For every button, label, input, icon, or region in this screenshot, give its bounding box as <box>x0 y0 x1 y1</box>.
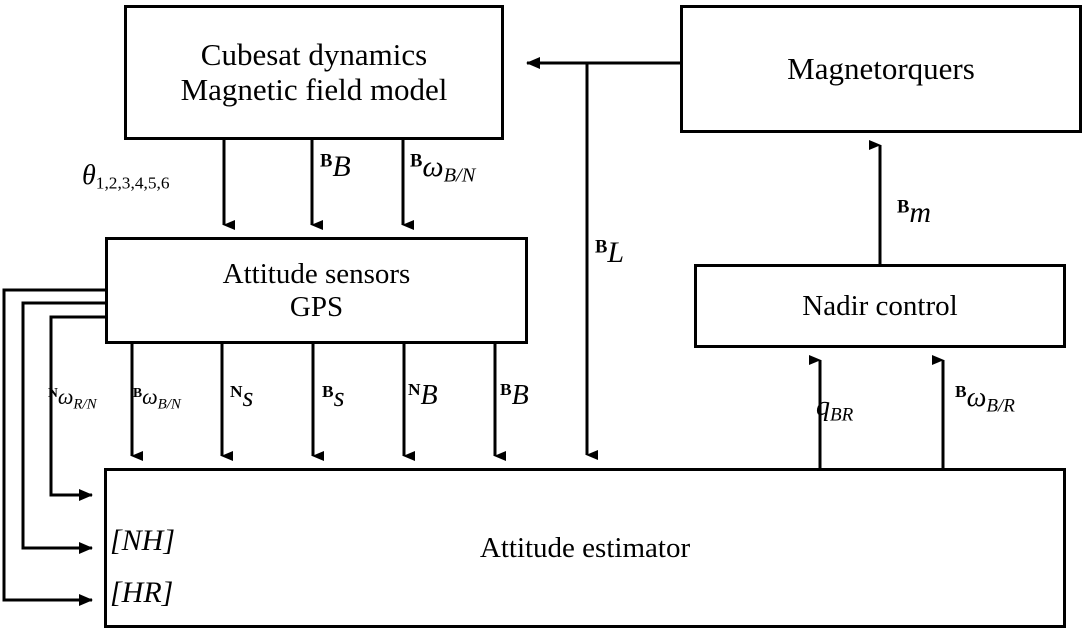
signal-label-dipole-Bm: Bm <box>897 198 931 228</box>
signal-bomega-bot-base: ω <box>142 384 158 409</box>
signal-Bs-presup: B <box>322 382 334 401</box>
signal-label-relative-rate: BωB/R <box>955 383 1015 415</box>
block-magnetorquers-label: Magnetorquers <box>787 52 975 87</box>
connector-feedback-NH <box>23 303 105 548</box>
block-attitude-sensors[interactable]: Attitude sensors GPS <box>105 237 528 344</box>
signal-bomega-top-sub: B/N <box>444 165 476 187</box>
signal-bB-bot-base: B <box>512 380 529 411</box>
signal-bB-bot-presup: B <box>500 380 512 399</box>
signal-Ns-base: s <box>243 382 254 413</box>
signal-label-NH: [NH] <box>110 526 175 556</box>
block-cubesat-dynamics-line1: Cubesat dynamics <box>201 38 427 73</box>
signal-label-HR: [HR] <box>110 578 173 608</box>
signal-omegaRN-sub: R/N <box>73 396 96 412</box>
signal-bomega-top-presup: B <box>410 150 422 171</box>
signal-label-sun-vector-inertial: Ns <box>230 383 253 412</box>
signal-bB-top-presup: B <box>320 150 332 171</box>
signal-label-quaternion-BR: qBR <box>816 393 853 424</box>
block-magnetorquers[interactable]: Magnetorquers <box>680 5 1082 133</box>
signal-label-body-rate-top: BωB/N <box>410 152 475 186</box>
signal-Ns-presup: N <box>230 382 243 401</box>
signal-label-omega-R-N: NωR/N <box>48 386 97 412</box>
block-attitude-sensors-line1: Attitude sensors <box>223 258 411 290</box>
signal-omegaRN-presup: N <box>48 385 58 400</box>
signal-NB-presup: N <box>408 380 421 399</box>
signal-label-mag-field-body: BB <box>500 381 529 410</box>
block-nadir-control[interactable]: Nadir control <box>694 264 1066 348</box>
block-cubesat-dynamics[interactable]: Cubesat dynamics Magnetic field model <box>124 5 504 140</box>
signal-bomegaBR-sub: B/R <box>986 395 1015 416</box>
signal-Bm-presup: B <box>897 196 909 217</box>
signal-theta-sub: 1,2,3,4,5,6 <box>96 174 170 193</box>
signal-Bm-base: m <box>909 196 931 229</box>
signal-bB-top-base: B <box>332 150 350 183</box>
signal-Bs-base: s <box>334 382 345 413</box>
signal-bomega-bot-presup: B <box>133 385 142 400</box>
block-attitude-estimator[interactable]: Attitude estimator <box>104 468 1066 628</box>
signal-NB-base: B <box>421 380 438 411</box>
signal-BL-presup: B <box>595 236 607 257</box>
signal-label-sun-vector-body: Bs <box>322 383 345 412</box>
block-nadir-control-label: Nadir control <box>802 290 957 322</box>
signal-label-b-field-body-top: BB <box>320 152 351 182</box>
signal-bomegaBR-base: ω <box>967 382 987 413</box>
signal-label-mag-field-inertial: NB <box>408 381 438 410</box>
signal-bomega-bot-sub: B/N <box>158 396 181 412</box>
connector-feedback-HR <box>4 290 105 600</box>
signal-bomegaBR-presup: B <box>955 382 967 401</box>
signal-qBR-sub: BR <box>830 404 853 425</box>
signal-label-body-rate-bottom: BωB/N <box>133 386 181 412</box>
signal-BL-base: L <box>607 236 624 269</box>
signal-theta-base: θ <box>82 160 96 191</box>
signal-qBR-base: q <box>816 391 830 422</box>
signal-label-theta: θ1,2,3,4,5,6 <box>82 162 170 192</box>
block-attitude-sensors-line2: GPS <box>290 291 343 323</box>
signal-bomega-top-base: ω <box>422 150 443 183</box>
block-diagram-canvas: Cubesat dynamics Magnetic field model Ma… <box>0 0 1086 631</box>
block-cubesat-dynamics-line2: Magnetic field model <box>181 73 448 108</box>
block-attitude-estimator-label: Attitude estimator <box>480 532 690 564</box>
signal-label-torque-BL: BL <box>595 238 624 268</box>
signal-omegaRN-base: ω <box>58 384 74 409</box>
